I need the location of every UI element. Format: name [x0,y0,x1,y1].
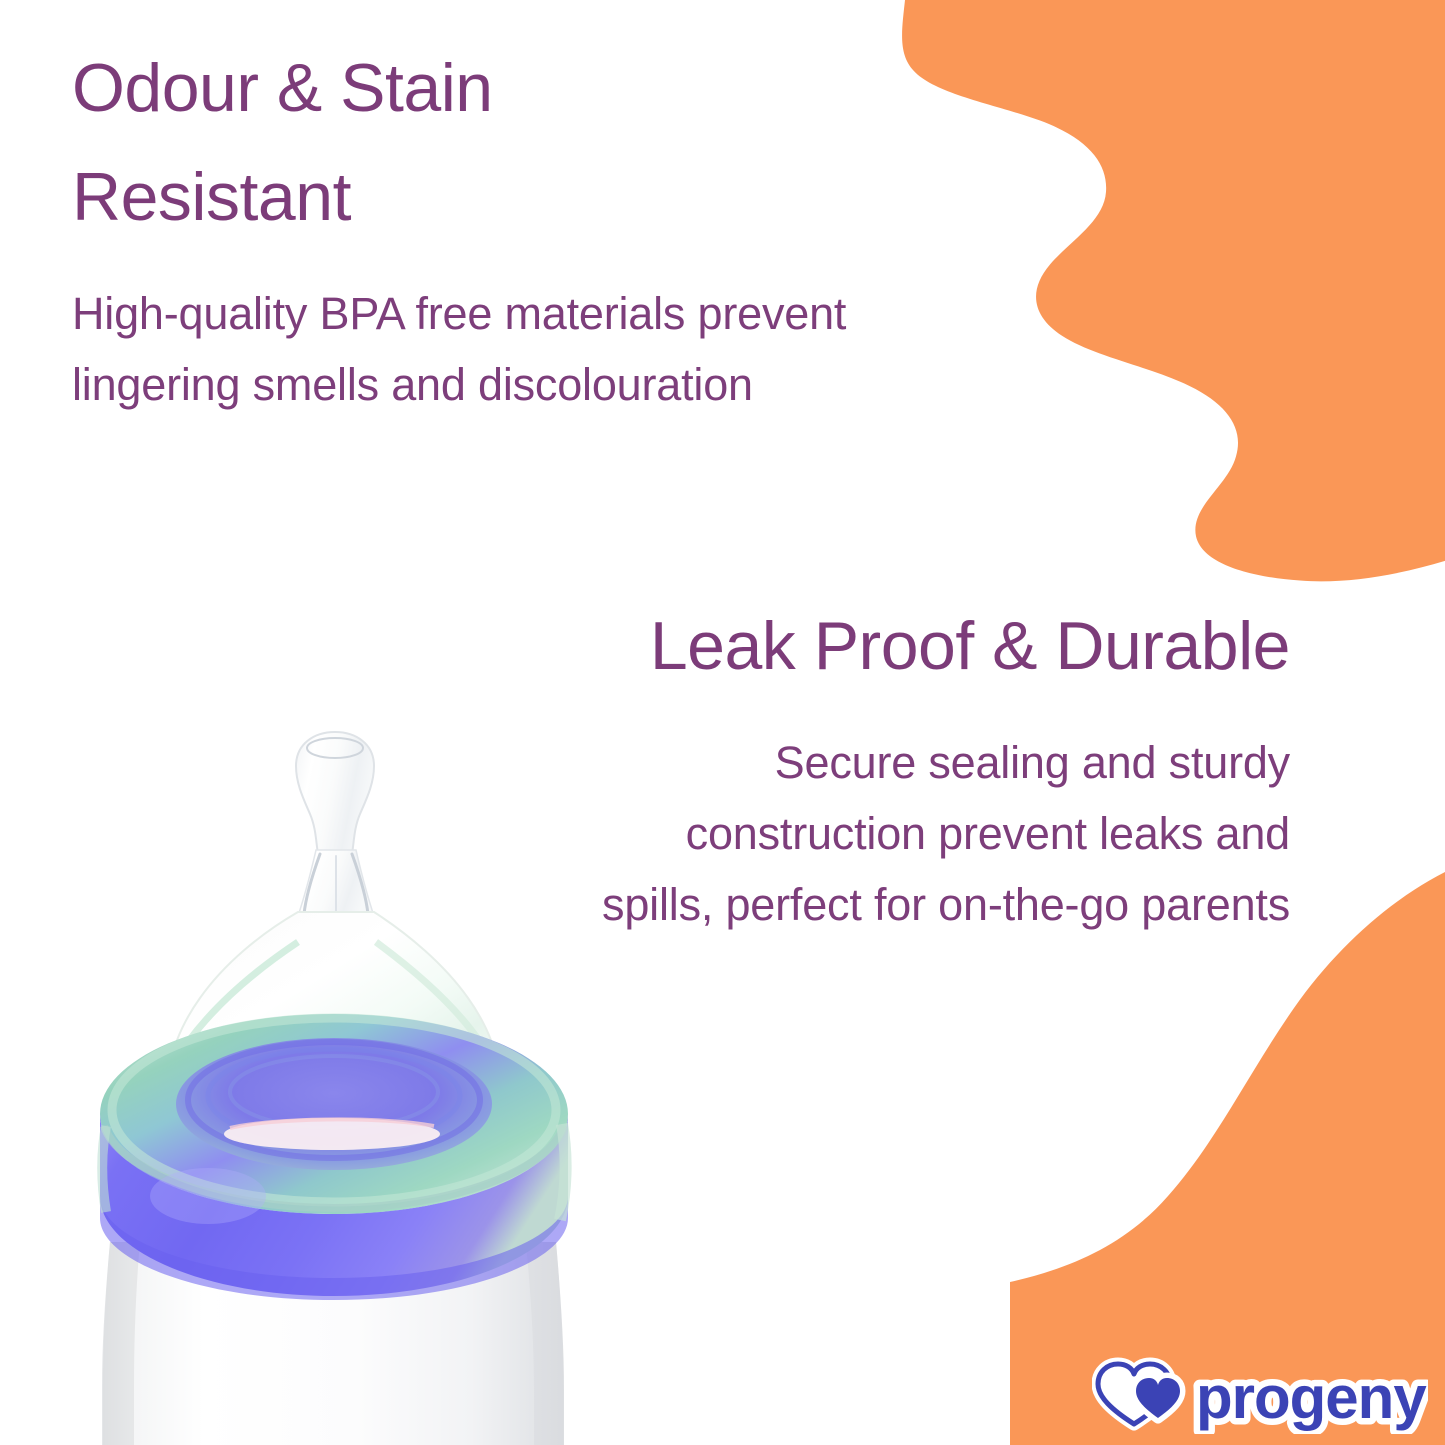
infographic-canvas: Odour & Stain Resistant High-quality BPA… [0,0,1445,1445]
feature-leak-proof-durable: Leak Proof & Durable Secure sealing and … [590,592,1290,940]
feature-heading-odour: Odour & Stain Resistant [72,34,692,252]
product-image-baby-bottle [48,726,614,1445]
brand-logo[interactable]: progeny progeny [1092,1356,1428,1434]
bottle-collar-specular [150,1168,266,1224]
feature-heading-leak: Leak Proof & Durable [590,592,1290,701]
feature-body-odour: High-quality BPA free materials prevent … [72,278,902,420]
feature-body-leak: Secure sealing and sturdy construction p… [590,727,1290,940]
bottle-collar-left-edge [102,1126,106,1212]
bottle-collar-right-edge [560,1124,566,1220]
double-heart-icon [1098,1364,1180,1424]
orange-blob-top-right [902,0,1445,581]
brand-wordmark: progeny [1196,1364,1427,1431]
feature-odour-stain-resistant: Odour & Stain Resistant High-quality BPA… [72,34,902,420]
